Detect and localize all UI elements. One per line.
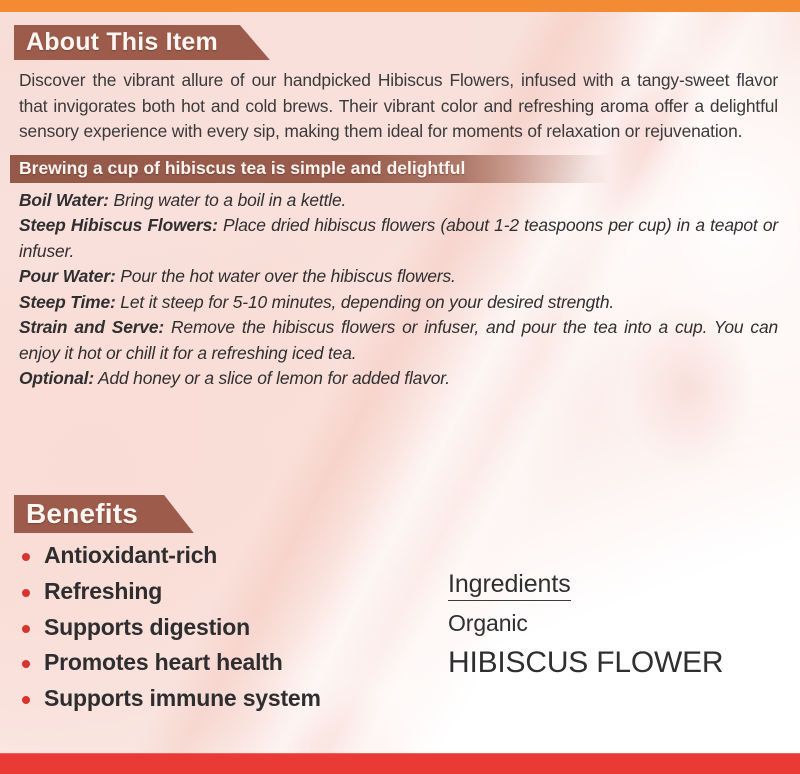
brewing-step: Boil Water: Bring water to a boil in a k…	[19, 188, 778, 214]
brewing-step: Strain and Serve: Remove the hibiscus fl…	[19, 315, 778, 366]
about-this-item-heading: About This Item	[14, 25, 270, 60]
benefit-item: Promotes heart health	[22, 647, 430, 678]
brewing-step-text: Bring water to a boil in a kettle.	[109, 190, 346, 210]
benefit-item: Supports immune system	[22, 683, 430, 714]
benefit-item-label: Supports immune system	[44, 685, 321, 711]
brewing-step-label: Steep Time:	[19, 292, 116, 312]
brewing-step-label: Pour Water:	[19, 266, 116, 286]
ingredients-column: Ingredients Organic HIBISCUS FLOWER	[430, 495, 800, 681]
benefit-item-label: Refreshing	[44, 578, 162, 604]
benefits-column: Benefits Antioxidant-rich Refreshing Sup…	[0, 495, 430, 718]
benefit-item: Antioxidant-rich	[22, 540, 430, 571]
benefit-item: Supports digestion	[22, 612, 430, 643]
brewing-step-label: Strain and Serve:	[19, 317, 164, 337]
top-accent-bar	[0, 0, 800, 12]
bullet-icon	[22, 696, 30, 704]
bullet-icon	[22, 553, 30, 561]
brewing-step-text: Let it steep for 5-10 minutes, depending…	[116, 292, 614, 312]
brewing-step-label: Optional:	[19, 368, 94, 388]
bottom-accent-bar	[0, 753, 800, 774]
ingredients-heading-wrap: Ingredients	[448, 569, 800, 601]
about-this-item-paragraph: Discover the vibrant allure of our handp…	[19, 68, 778, 145]
brewing-step: Pour Water: Pour the hot water over the …	[19, 264, 778, 290]
brewing-step: Steep Time: Let it steep for 5-10 minute…	[19, 290, 778, 316]
brewing-step-text: Add honey or a slice of lemon for added …	[94, 368, 450, 388]
content-area: About This Item Discover the vibrant all…	[0, 12, 800, 392]
benefit-item-label: Supports digestion	[44, 614, 250, 640]
brewing-step-text: Pour the hot water over the hibiscus flo…	[116, 266, 456, 286]
bullet-icon	[22, 589, 30, 597]
brewing-step-label: Boil Water:	[19, 190, 109, 210]
benefit-item-label: Promotes heart health	[44, 649, 283, 675]
brewing-heading: Brewing a cup of hibiscus tea is simple …	[10, 155, 609, 183]
brewing-step-label: Steep Hibiscus Flowers:	[19, 215, 218, 235]
ingredients-heading: Ingredients	[448, 569, 571, 601]
benefits-list: Antioxidant-rich Refreshing Supports dig…	[0, 540, 430, 713]
brewing-step: Steep Hibiscus Flowers: Place dried hibi…	[19, 213, 778, 264]
benefits-heading: Benefits	[14, 495, 194, 533]
brewing-steps-list: Boil Water: Bring water to a boil in a k…	[19, 188, 778, 392]
bullet-icon	[22, 660, 30, 668]
ingredients-qualifier: Organic	[448, 610, 800, 638]
product-description-panel: About This Item Discover the vibrant all…	[0, 0, 800, 774]
bullet-icon	[22, 625, 30, 633]
ingredients-name: HIBISCUS FLOWER	[448, 645, 800, 681]
benefit-item-label: Antioxidant-rich	[44, 542, 217, 568]
brewing-step: Optional: Add honey or a slice of lemon …	[19, 366, 778, 392]
lower-section: Benefits Antioxidant-rich Refreshing Sup…	[0, 495, 800, 718]
benefit-item: Refreshing	[22, 576, 430, 607]
